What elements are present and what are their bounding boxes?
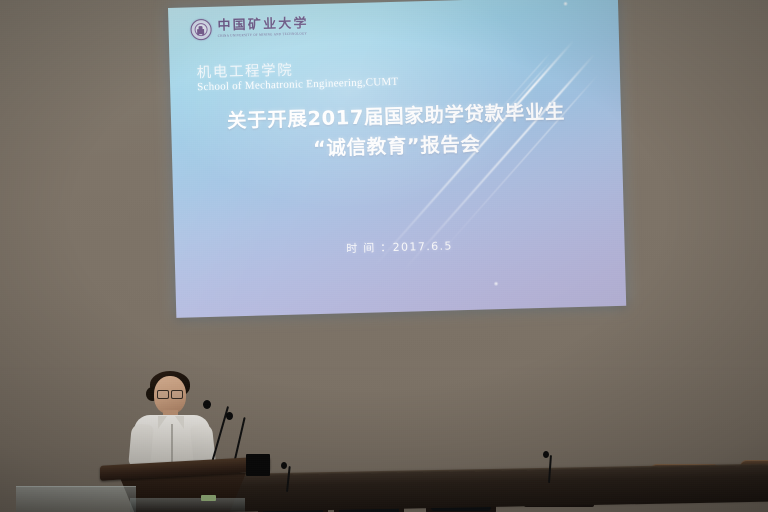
screenshot-root: 中国矿业大学 CHINA UNIVERSITY OF MINING AND TE… (0, 0, 768, 512)
university-logo-text: 中国矿业大学 CHINA UNIVERSITY OF MINING AND TE… (217, 18, 309, 39)
glasses-icon (157, 390, 183, 398)
presenter-collar-right (175, 416, 184, 429)
slide-content: 中国矿业大学 CHINA UNIVERSITY OF MINING AND TE… (168, 0, 626, 318)
wall-seam (0, 370, 768, 373)
green-object-on-table (201, 495, 216, 501)
date-separator: ： (380, 241, 393, 254)
university-name-en: CHINA UNIVERSITY OF MINING AND TECHNOLOG… (218, 33, 309, 39)
projected-slide: 中国矿业大学 CHINA UNIVERSITY OF MINING AND TE… (168, 0, 626, 318)
front-table-surface-lower (130, 498, 245, 512)
date-label: 时间 (346, 241, 380, 255)
projection-screen: 中国矿业大学 CHINA UNIVERSITY OF MINING AND TE… (168, 0, 626, 318)
presenter (128, 372, 220, 472)
date-value: 2017.6.5 (392, 239, 453, 254)
university-seal-icon (190, 19, 212, 41)
microphone-head-icon (226, 412, 233, 420)
monitor-back (246, 454, 270, 476)
presenter-collar-left (158, 416, 167, 429)
microphone-head-icon (281, 462, 287, 469)
front-table-surface (16, 486, 136, 512)
slide-date-row: 时间：2017.6.5 (174, 233, 624, 261)
university-logo: 中国矿业大学 CHINA UNIVERSITY OF MINING AND TE… (190, 16, 309, 40)
slide-title: 关于开展2017届国家助学贷款毕业生 “诚信教育”报告会 (171, 96, 622, 167)
microphone-head-icon (203, 400, 211, 409)
microphone-head-icon (543, 451, 549, 458)
